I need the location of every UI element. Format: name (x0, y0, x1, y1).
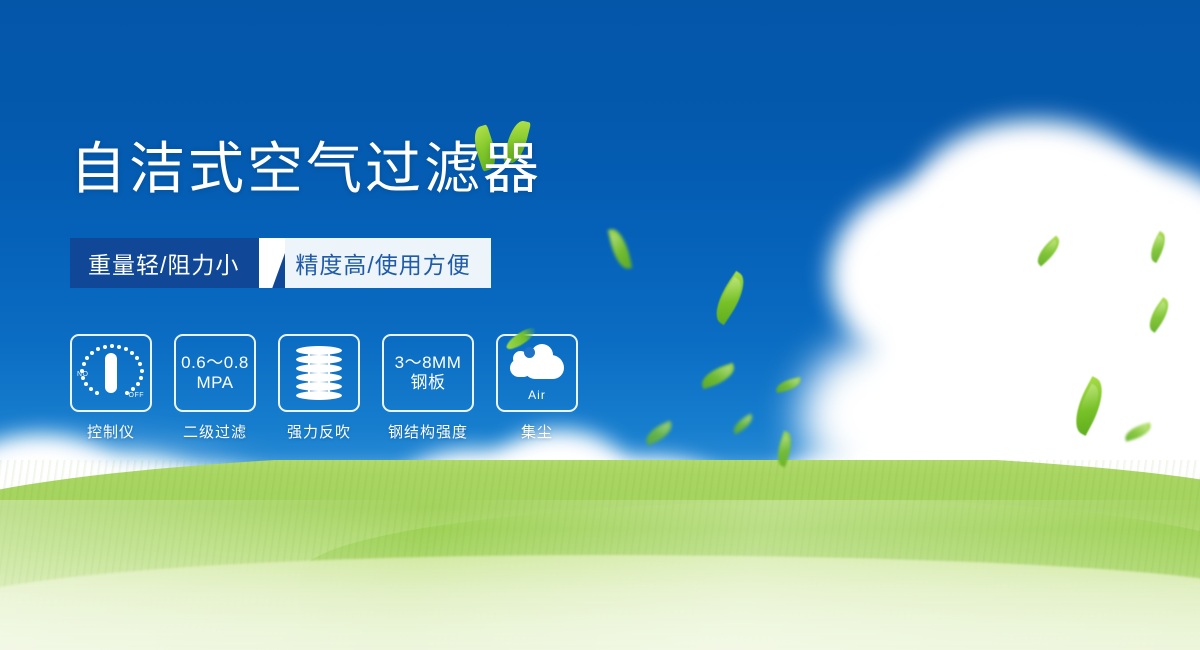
feature-label: 强力反吹 (287, 421, 351, 442)
feature-item-controller[interactable]: NO OFF 控制仪 (70, 334, 152, 442)
pressure-unit: MPA (181, 373, 249, 393)
steel-plate-icon: 3～8MM 钢板 (395, 353, 462, 392)
air-label: Air (528, 388, 546, 402)
steel-thickness: 3～8MM (395, 353, 462, 372)
page-title: 自洁式空气过滤器 (70, 140, 542, 199)
gauge-label-no: NO (77, 371, 89, 378)
gauge-icon: NO OFF (79, 344, 143, 402)
subtitle-left: 重量轻/阻力小 (70, 238, 259, 288)
cloud-air-icon (510, 345, 564, 387)
feature-label: 控制仪 (87, 421, 135, 442)
feature-item-blowback[interactable]: 强力反吹 (278, 334, 360, 442)
pressure-range: 0.6～0.8 (181, 353, 249, 372)
subtitle-divider (259, 238, 285, 288)
feature-icon-box: 3～8MM 钢板 (382, 334, 474, 412)
steel-material: 钢板 (395, 373, 462, 393)
feature-item-steel[interactable]: 3～8MM 钢板 钢结构强度 (382, 334, 474, 442)
feature-item-pressure[interactable]: 0.6～0.8 MPA 二级过滤 (174, 334, 256, 442)
feature-icon-box: 0.6～0.8 MPA (174, 334, 256, 412)
feature-icon-box (278, 334, 360, 412)
subtitle-right: 精度高/使用方便 (285, 238, 490, 288)
filter-stack-icon (296, 346, 342, 400)
pressure-icon: 0.6～0.8 MPA (181, 353, 249, 392)
product-banner: 自洁式空气过滤器 重量轻/阻力小 精度高/使用方便 (0, 0, 1200, 650)
feature-label: 二级过滤 (183, 421, 247, 442)
subtitle-bar: 重量轻/阻力小 精度高/使用方便 (70, 238, 491, 288)
feature-icon-box: Air (496, 334, 578, 412)
gauge-needle (105, 353, 117, 393)
feature-label: 集尘 (521, 421, 553, 442)
feature-icon-box: NO OFF (70, 334, 152, 412)
gauge-label-off: OFF (129, 392, 145, 399)
feature-item-dust[interactable]: Air 集尘 (496, 334, 578, 442)
feature-list: NO OFF 控制仪 0.6～0.8 MPA 二级过滤 (70, 334, 578, 442)
grass-field (0, 460, 1200, 650)
grass-sheen (0, 500, 1200, 650)
feature-label: 钢结构强度 (388, 421, 468, 442)
